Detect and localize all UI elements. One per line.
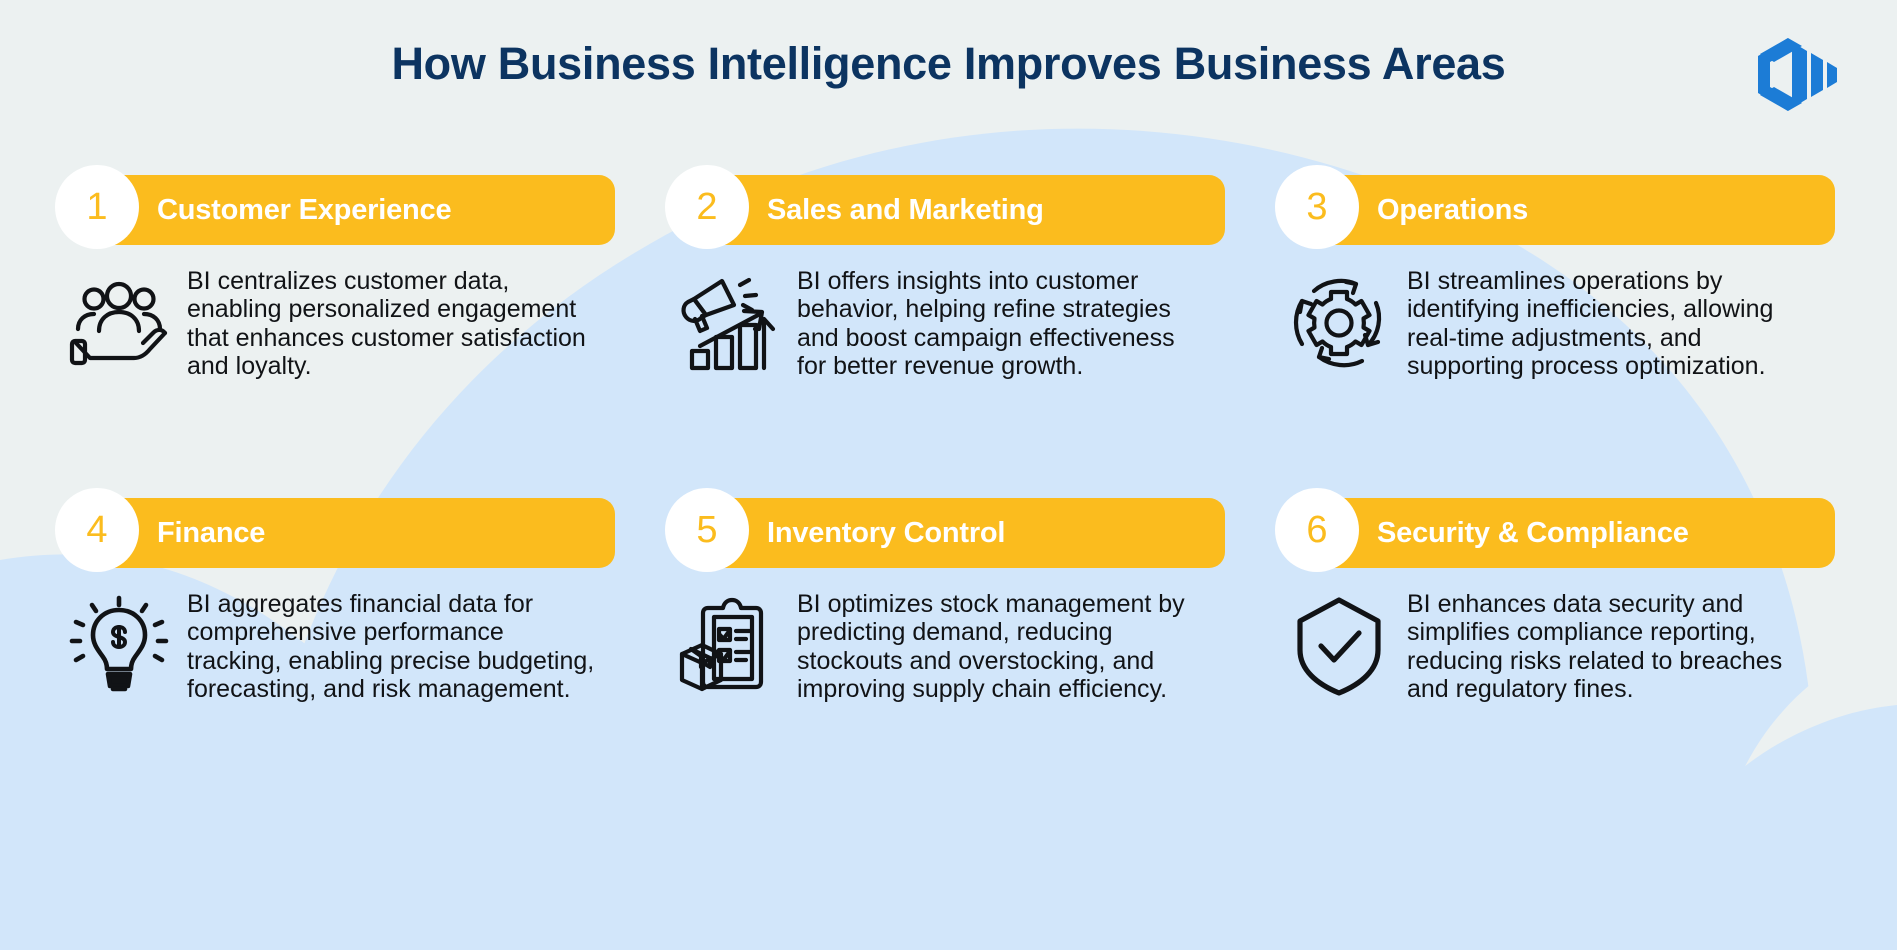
card-body: BI offers insights into customer behavio… <box>665 267 1225 380</box>
card-body: BI optimizes stock management by predict… <box>665 590 1225 703</box>
card-header: 2 Sales and Marketing <box>665 175 1225 245</box>
card-title: Inventory Control <box>767 517 1005 550</box>
card-inventory-control: 5 Inventory Control <box>665 498 1225 703</box>
number-label: 4 <box>86 511 107 549</box>
shield-check-icon <box>1283 590 1395 700</box>
number-badge: 3 <box>1275 165 1359 249</box>
infographic-canvas: How Business Intelligence Improves Busin… <box>0 0 1897 950</box>
gear-cycle-icon <box>1283 267 1395 377</box>
card-operations: 3 Operations <box>1275 175 1835 380</box>
number-label: 2 <box>696 188 717 226</box>
card-header: 3 Operations <box>1275 175 1835 245</box>
header: How Business Intelligence Improves Busin… <box>0 38 1897 90</box>
card-sales-and-marketing: 2 Sales and Marketing <box>665 175 1225 380</box>
number-badge: 6 <box>1275 488 1359 572</box>
card-title: Operations <box>1377 194 1528 227</box>
page-title: How Business Intelligence Improves Busin… <box>391 38 1505 90</box>
card-body: BI enhances data security and simplifies… <box>1275 590 1835 703</box>
number-badge: 4 <box>55 488 139 572</box>
card-title: Sales and Marketing <box>767 194 1044 227</box>
card-description: BI optimizes stock management by predict… <box>797 590 1207 703</box>
people-in-hand-icon <box>63 267 175 377</box>
number-label: 3 <box>1306 188 1327 226</box>
number-label: 6 <box>1306 511 1327 549</box>
number-badge: 1 <box>55 165 139 249</box>
card-description: BI centralizes customer data, enabling p… <box>187 267 597 380</box>
megaphone-growth-chart-icon <box>673 267 785 377</box>
lightbulb-dollar-icon <box>63 590 175 700</box>
card-header: 6 Security & Compliance <box>1275 498 1835 568</box>
card-title: Finance <box>157 517 265 550</box>
card-security-and-compliance: 6 Security & Compliance BI enhances data… <box>1275 498 1835 703</box>
card-description: BI enhances data security and simplifies… <box>1407 590 1817 703</box>
number-badge: 2 <box>665 165 749 249</box>
number-label: 5 <box>696 511 717 549</box>
card-header: 1 Customer Experience <box>55 175 615 245</box>
card-title: Security & Compliance <box>1377 517 1689 550</box>
card-description: BI offers insights into customer behavio… <box>797 267 1207 380</box>
card-description: BI aggregates financial data for compreh… <box>187 590 597 703</box>
cards-grid: 1 Customer Experience <box>55 175 1845 703</box>
clipboard-checklist-box-icon <box>673 590 785 700</box>
number-label: 1 <box>86 188 107 226</box>
card-finance: 4 Finance <box>55 498 615 703</box>
card-title: Customer Experience <box>157 194 451 227</box>
card-body: BI aggregates financial data for compreh… <box>55 590 615 703</box>
company-cube-logo <box>1750 32 1842 117</box>
card-customer-experience: 1 Customer Experience <box>55 175 615 380</box>
card-description: BI streamlines operations by identifying… <box>1407 267 1817 380</box>
card-body: BI centralizes customer data, enabling p… <box>55 267 615 380</box>
card-body: BI streamlines operations by identifying… <box>1275 267 1835 380</box>
card-header: 4 Finance <box>55 498 615 568</box>
number-badge: 5 <box>665 488 749 572</box>
card-header: 5 Inventory Control <box>665 498 1225 568</box>
